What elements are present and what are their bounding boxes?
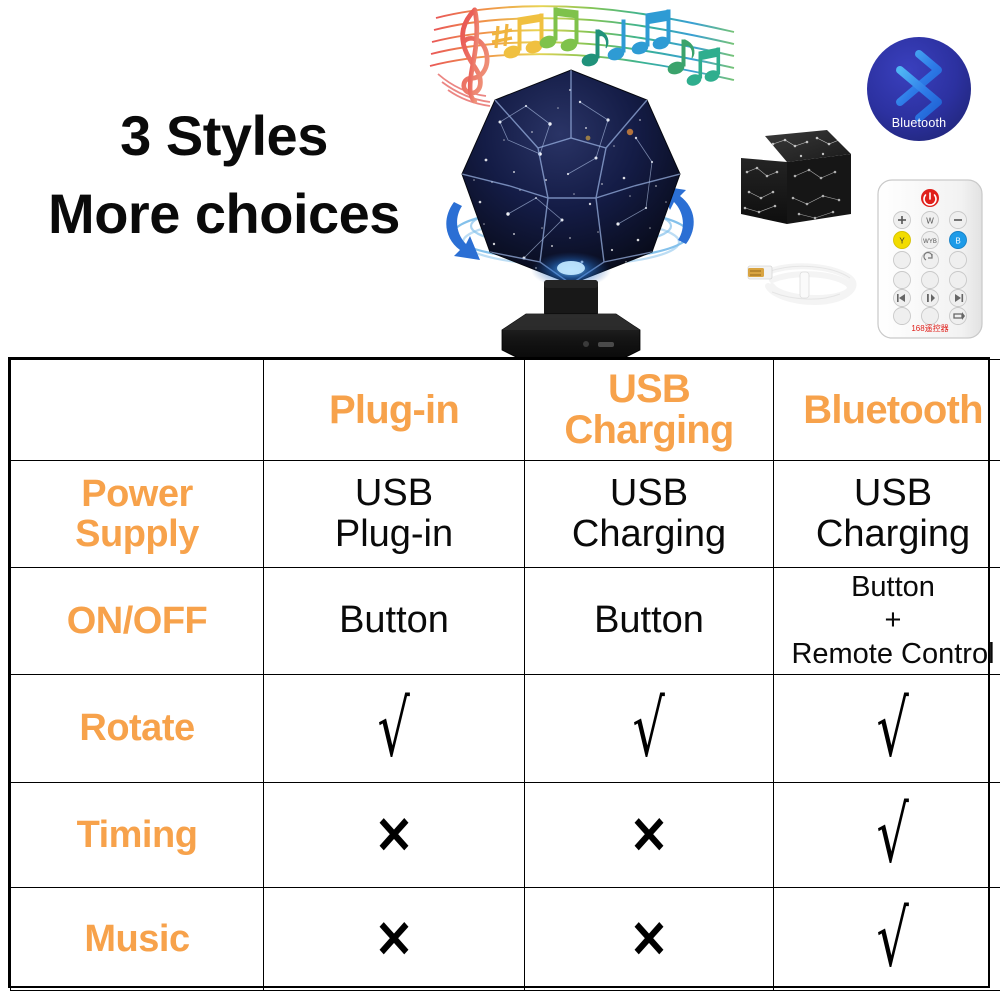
table-row: Timing ✕ ✕ √ xyxy=(11,783,1000,888)
cell-rotate-bluetooth: √ xyxy=(774,675,1000,783)
column-header-usb-charging: USB Charging xyxy=(525,360,774,461)
column-header-bluetooth-line1: Bluetooth xyxy=(776,390,1000,431)
cell-text-line3: Remote Control xyxy=(776,638,1000,671)
table-row: Power Supply USB Plug-in USB Charg xyxy=(11,461,1000,568)
table-row: ON/OFF Button Button xyxy=(11,568,1000,675)
cell-text-line1: Button xyxy=(776,571,1000,604)
cross-icon: ✕ xyxy=(375,809,414,861)
check-icon: √ xyxy=(633,690,665,768)
cell-music-bluetooth: √ xyxy=(774,888,1000,991)
usb-cable xyxy=(742,248,868,316)
row-header-power-supply-line1: Power xyxy=(13,474,261,514)
table-corner-cell xyxy=(11,360,264,461)
cross-icon: ✕ xyxy=(630,809,669,861)
svg-text:W: W xyxy=(926,217,934,226)
cell-text-line2: + xyxy=(776,604,1000,637)
column-header-plug-in-line1: Plug-in xyxy=(266,390,522,431)
cell-power-supply-bluetooth: USB Charging xyxy=(774,461,1000,568)
remote-control: W Y WYB B xyxy=(874,178,986,340)
cell-rotate-usb-charging: √ xyxy=(525,675,774,783)
cell-text-line2: Charging xyxy=(527,514,771,555)
row-header-power-supply: Power Supply xyxy=(11,461,264,568)
cell-music-usb-charging: ✕ xyxy=(525,888,774,991)
column-header-plug-in: Plug-in xyxy=(264,360,525,461)
check-icon: √ xyxy=(378,690,410,768)
table-row: Rotate √ √ √ xyxy=(11,675,1000,783)
cross-icon: ✕ xyxy=(375,913,414,965)
table-header-row: Plug-in USB Charging Bluetooth xyxy=(11,360,1000,461)
cell-text-line1: USB xyxy=(527,473,771,514)
table-row: Music ✕ ✕ √ xyxy=(11,888,1000,991)
check-icon: √ xyxy=(877,796,909,874)
bluetooth-label: Bluetooth xyxy=(866,116,972,130)
check-icon: √ xyxy=(877,690,909,768)
row-header-timing: Timing xyxy=(11,783,264,888)
comparison-table: Plug-in USB Charging Bluetooth xyxy=(8,357,990,988)
cross-icon: ✕ xyxy=(630,913,669,965)
svg-text:B: B xyxy=(955,237,960,246)
cell-text-line1: USB xyxy=(266,473,522,514)
cell-rotate-plug-in: √ xyxy=(264,675,525,783)
cell-on-off-plug-in: Button xyxy=(264,568,525,675)
svg-text:WYB: WYB xyxy=(923,239,937,245)
column-header-usb-charging-line2: Charging xyxy=(527,410,771,451)
row-header-timing-line1: Timing xyxy=(13,815,261,855)
star-projector-lamp xyxy=(440,62,702,360)
headline-line-1: 3 Styles xyxy=(14,108,434,164)
row-header-on-off-line1: ON/OFF xyxy=(13,601,261,641)
headline-line-2: More choices xyxy=(14,186,434,242)
row-header-on-off: ON/OFF xyxy=(11,568,264,675)
cell-on-off-usb-charging: Button xyxy=(525,568,774,675)
bluetooth-badge: Bluetooth xyxy=(866,36,972,142)
row-header-rotate: Rotate xyxy=(11,675,264,783)
cell-timing-usb-charging: ✕ xyxy=(525,783,774,888)
cell-timing-bluetooth: √ xyxy=(774,783,1000,888)
cell-text-line2: Plug-in xyxy=(266,514,522,555)
cell-power-supply-usb-charging: USB Charging xyxy=(525,461,774,568)
remote-caption: 168遥控器 xyxy=(874,323,986,334)
cell-on-off-bluetooth: Button + Remote Control xyxy=(774,568,1000,675)
column-header-bluetooth: Bluetooth xyxy=(774,360,1000,461)
check-icon: √ xyxy=(877,900,909,978)
infographic-page: 3 Styles More choices xyxy=(0,0,1000,1000)
cell-text-line1: USB xyxy=(776,473,1000,514)
hero-section: 3 Styles More choices xyxy=(0,0,1000,357)
cell-text-line1: Button xyxy=(266,600,522,641)
row-header-rotate-line1: Rotate xyxy=(13,708,261,748)
row-header-power-supply-line2: Supply xyxy=(13,514,261,554)
cell-timing-plug-in: ✕ xyxy=(264,783,525,888)
cell-power-supply-plug-in: USB Plug-in xyxy=(264,461,525,568)
row-header-music: Music xyxy=(11,888,264,991)
cell-text-line1: Button xyxy=(527,600,771,641)
svg-text:Y: Y xyxy=(899,237,905,246)
constellation-gift-box xyxy=(735,128,855,232)
cell-text-line2: Charging xyxy=(776,514,1000,555)
column-header-usb-charging-line1: USB xyxy=(527,369,771,410)
cell-music-plug-in: ✕ xyxy=(264,888,525,991)
row-header-music-line1: Music xyxy=(13,919,261,959)
